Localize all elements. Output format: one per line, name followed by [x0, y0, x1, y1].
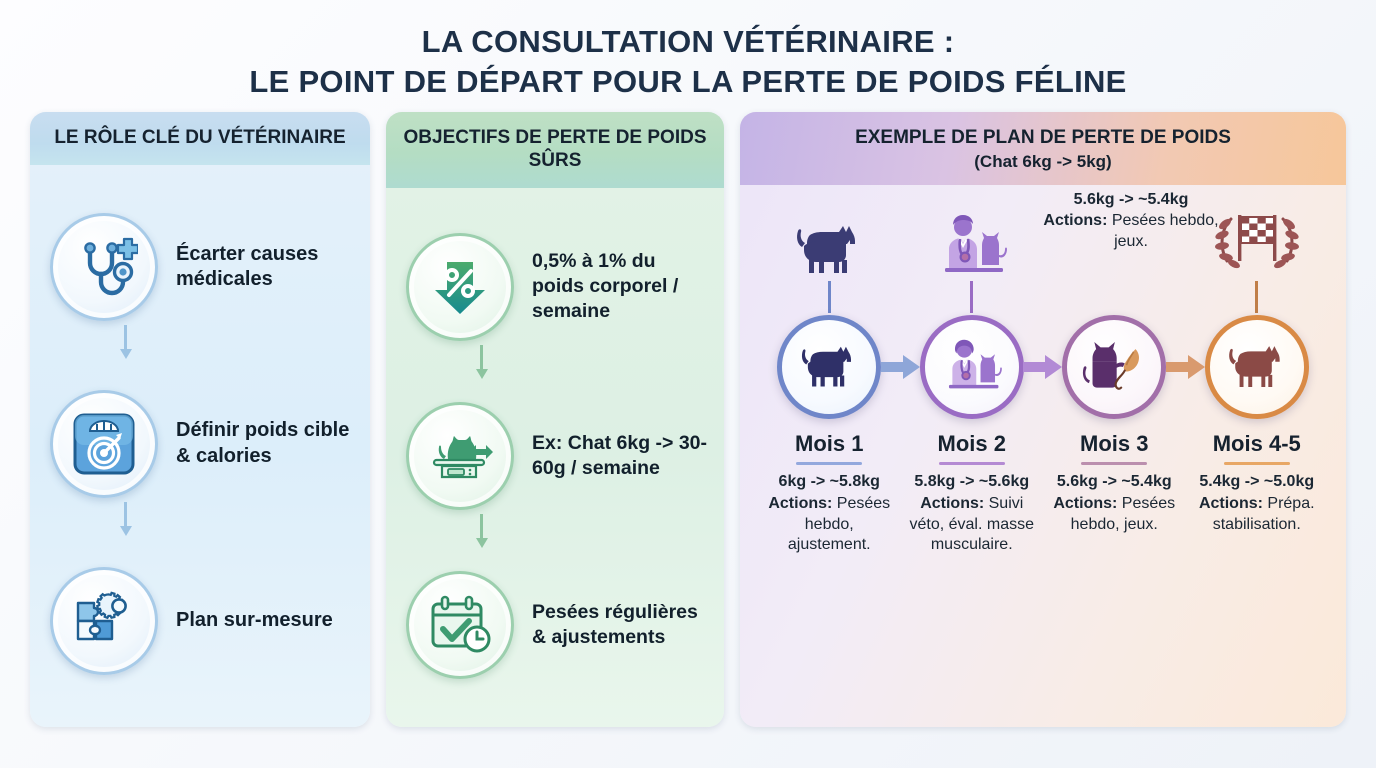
- month-underline: [939, 462, 1005, 465]
- vet-with-cat-icon: [932, 199, 1012, 281]
- scale-target-icon: [50, 390, 158, 498]
- month-weight: 5.8kg -> ~5.6kg: [905, 472, 1040, 493]
- panel-vet-role-items: Écarter causes médicales: [30, 165, 370, 727]
- timeline-top-cell: [901, 199, 1044, 313]
- month-actions-label: Actions:: [1053, 495, 1117, 512]
- month-actions-label: Actions:: [920, 495, 984, 512]
- panel-goals-items: 0,5% à 1% du poids corporel / semaine: [386, 188, 724, 727]
- list-item-label: Définir poids cible & calories: [176, 418, 354, 469]
- timeline-label-month-2: Mois 2 5.8kg -> ~5.6kg Actions: Suivi vé…: [901, 431, 1044, 556]
- panel-goals: OBJECTIFS DE PERTE DE POIDS SÛRS: [386, 112, 724, 727]
- flow-arrow-icon: [124, 502, 127, 536]
- cat-walking-icon: [790, 199, 868, 281]
- stethoscope-icon: [50, 213, 158, 321]
- timeline-stem: [1113, 281, 1116, 313]
- timeline: 5.6kg -> ~5.4kg Actions: Pesées hebdo, j…: [740, 185, 1346, 727]
- panel-plan-title: EXEMPLE DE PLAN DE PERTE DE POIDS: [756, 126, 1330, 149]
- vet-with-cat-icon: [937, 338, 1007, 396]
- timeline-label-month-3: Mois 3 5.6kg -> ~5.4kg Actions: Pesées h…: [1043, 431, 1186, 556]
- flow-arrow-icon: [124, 325, 127, 359]
- list-item-label: Plan sur-mesure: [176, 608, 333, 634]
- callout-weight: 5.6kg -> ~5.4kg: [1036, 190, 1226, 211]
- list-item: 0,5% à 1% du poids corporel / semaine: [406, 233, 708, 341]
- list-item-label: Pesées régulières & ajustements: [532, 600, 708, 650]
- month-title: Mois 2: [901, 431, 1044, 457]
- month-description: 5.8kg -> ~5.6kg Actions: Suivi véto, éva…: [901, 472, 1044, 556]
- panel-vet-role: LE RÔLE CLÉ DU VÉTÉRINAIRE: [30, 112, 370, 727]
- month-weight: 5.6kg -> ~5.4kg: [1047, 472, 1182, 493]
- timeline-top-cell: [758, 199, 901, 313]
- month-underline: [1224, 462, 1290, 465]
- list-item: Ex: Chat 6kg -> 30-60g / semaine: [406, 402, 708, 510]
- list-item: Pesées régulières & ajustements: [406, 571, 708, 679]
- flow-arrow-icon: [1023, 354, 1063, 380]
- month-description: 5.6kg -> ~5.4kg Actions: Pesées hebdo, j…: [1043, 472, 1186, 535]
- puzzle-gear-icon: [50, 567, 158, 675]
- list-item: Plan sur-mesure: [50, 567, 354, 675]
- cat-slim-icon: [1223, 340, 1291, 394]
- month-description: 5.4kg -> ~5.0kg Actions: Prépa. stabilis…: [1186, 472, 1329, 535]
- title-line-2: LE POINT DE DÉPART POUR LA PERTE DE POID…: [0, 62, 1376, 102]
- panel-vet-role-header: LE RÔLE CLÉ DU VÉTÉRINAIRE: [30, 112, 370, 165]
- panel-plan-subtitle: (Chat 6kg -> 5kg): [756, 152, 1330, 173]
- month-actions-label: Actions:: [768, 495, 832, 512]
- timeline-nodes: [758, 315, 1328, 419]
- timeline-label-month-4: Mois 4-5 5.4kg -> ~5.0kg Actions: Prépa.…: [1186, 431, 1329, 556]
- percent-down-arrow-icon: [406, 233, 514, 341]
- month-weight: 5.4kg -> ~5.0kg: [1190, 472, 1325, 493]
- infographic-page: LA CONSULTATION VÉTÉRINAIRE : LE POINT D…: [0, 0, 1376, 768]
- cat-playing-feather-icon: [1080, 338, 1148, 396]
- flow-arrow-icon: [881, 354, 921, 380]
- month-title: Mois 1: [758, 431, 901, 457]
- flow-arrow-icon: [1166, 354, 1206, 380]
- month-description: 6kg -> ~5.8kg Actions: Pesées hebdo, aju…: [758, 472, 901, 556]
- node-circle: [1205, 315, 1309, 419]
- flow-arrow-icon: [480, 345, 483, 379]
- list-item-label: 0,5% à 1% du poids corporel / semaine: [532, 249, 708, 324]
- month-title: Mois 3: [1043, 431, 1186, 457]
- panels-row: LE RÔLE CLÉ DU VÉTÉRINAIRE: [0, 112, 1376, 727]
- callout-month-3: 5.6kg -> ~5.4kg Actions: Pesées hebdo, j…: [1036, 190, 1226, 252]
- node-circle: [777, 315, 881, 419]
- cat-walking-icon: [796, 340, 862, 394]
- list-item: Écarter causes médicales: [50, 213, 354, 321]
- panel-plan: EXEMPLE DE PLAN DE PERTE DE POIDS (Chat …: [740, 112, 1346, 727]
- month-actions-label: Actions:: [1199, 495, 1263, 512]
- callout-actions: Pesées hebdo, jeux.: [1107, 212, 1218, 250]
- title-line-1: LA CONSULTATION VÉTÉRINAIRE :: [0, 22, 1376, 62]
- flow-arrow-icon: [480, 514, 483, 548]
- month-underline: [1081, 462, 1147, 465]
- timeline-node-month-2[interactable]: [901, 315, 1044, 419]
- node-circle: [920, 315, 1024, 419]
- cat-on-scale-icon: [406, 402, 514, 510]
- panel-goals-header: OBJECTIFS DE PERTE DE POIDS SÛRS: [386, 112, 724, 188]
- timeline-node-month-3[interactable]: [1043, 315, 1186, 419]
- timeline-node-month-1[interactable]: [758, 315, 901, 419]
- callout-actions-label: Actions:: [1043, 212, 1107, 229]
- month-title: Mois 4-5: [1186, 431, 1329, 457]
- page-title: LA CONSULTATION VÉTÉRINAIRE : LE POINT D…: [0, 0, 1376, 102]
- calendar-check-clock-icon: [406, 571, 514, 679]
- month-underline: [796, 462, 862, 465]
- month-weight: 6kg -> ~5.8kg: [762, 472, 897, 493]
- timeline-stem: [1255, 281, 1258, 313]
- list-item: Définir poids cible & calories: [50, 390, 354, 498]
- timeline-stem: [828, 281, 831, 313]
- panel-plan-header: EXEMPLE DE PLAN DE PERTE DE POIDS (Chat …: [740, 112, 1346, 185]
- timeline-labels: Mois 1 6kg -> ~5.8kg Actions: Pesées heb…: [758, 431, 1328, 556]
- timeline-stem: [970, 281, 973, 313]
- node-circle: [1062, 315, 1166, 419]
- timeline-label-month-1: Mois 1 6kg -> ~5.8kg Actions: Pesées heb…: [758, 431, 901, 556]
- list-item-label: Ex: Chat 6kg -> 30-60g / semaine: [532, 431, 708, 481]
- list-item-label: Écarter causes médicales: [176, 242, 354, 293]
- timeline-node-month-4[interactable]: [1186, 315, 1329, 419]
